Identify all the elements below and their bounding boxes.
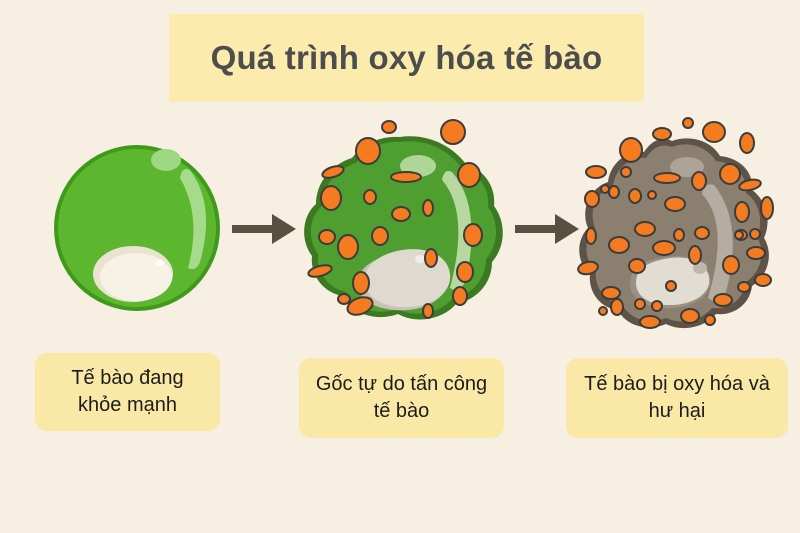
healthy-cell-body [58,149,216,307]
free-radical [735,231,743,239]
free-radical [621,167,631,177]
free-radical-group-stage-2 [307,120,482,318]
free-radical [423,304,433,318]
free-radical [747,247,765,259]
stage-2-cell-under-attack [304,120,503,319]
free-radical [695,227,709,239]
oxidized-cell-outline [579,138,769,328]
healthy-cell-nucleus-sheen [156,260,164,266]
free-radical [640,316,660,328]
free-radical [635,299,645,309]
free-radical [652,301,662,311]
healthy-cell-dot-highlight [151,149,181,171]
free-radical [586,228,596,244]
free-radical [611,299,623,315]
free-radical [629,259,645,273]
free-radical [683,118,693,128]
attacked-cell-nucleus-sheen [415,255,425,263]
arrow-2 [515,214,579,244]
free-radical [750,229,760,239]
caption-healthy-cell: Tế bào đang khỏe mạnh [35,353,220,431]
free-radical [602,287,620,299]
arrow-2-shaft [515,225,559,233]
free-radical [453,287,467,305]
stage-1-healthy-cell [54,145,220,311]
free-radical [666,281,676,291]
attacked-cell-nucleus [365,249,451,307]
oxidized-cell-nucleus-sheen [693,262,707,274]
stage-3-oxidized-cell [577,118,773,328]
free-radical [674,229,684,241]
caption-free-radical-attack: Gốc tự do tấn công tế bào [299,358,504,438]
free-radical [723,256,739,274]
healthy-cell-crescent-highlight [180,169,206,269]
arrow-1-head [272,214,296,244]
arrow-1-shaft [232,225,276,233]
free-radical [423,200,433,216]
free-radical [338,235,358,259]
free-radical [689,246,701,264]
free-radical [338,294,350,304]
free-radical [319,230,335,244]
free-radical [345,294,375,318]
free-radical [705,315,715,325]
free-radical [665,197,685,211]
free-radical [735,202,749,222]
free-radical [441,120,465,144]
free-radical [321,164,345,180]
title-banner: Quá trình oxy hóa tế bào [169,14,644,102]
free-radical [755,274,771,286]
free-radical [577,260,599,276]
free-radical [356,138,380,164]
free-radical [391,172,421,182]
free-radical [457,262,473,282]
free-radical [738,282,750,292]
free-radical [735,230,747,240]
page-title: Quá trình oxy hóa tế bào [211,39,603,77]
free-radical [585,191,599,207]
free-radical [307,263,333,279]
healthy-cell-nucleus-inner [100,253,172,301]
oxidized-cell-nucleus [636,258,709,306]
free-radical [653,128,671,140]
oxidized-cell-crescent-highlight [702,184,733,301]
caption-oxidized-cell: Tế bào bị oxy hóa và hư hại [566,358,788,438]
free-radical [586,166,606,178]
free-radical [740,133,754,153]
oxidized-cell-body [587,144,762,321]
attacked-cell-crescent-highlight [442,171,472,290]
attacked-cell-nucleus-shadow [357,252,448,311]
free-radical [425,249,437,267]
attacked-cell-body [311,141,496,314]
free-radical [692,172,706,190]
free-radical [599,307,607,315]
free-radical [353,272,369,294]
free-radical [635,222,655,236]
attacked-cell-outline [304,136,503,319]
free-radical [364,190,376,204]
free-radical-group-stage-3 [577,118,773,328]
free-radical [321,186,341,210]
free-radical [458,163,480,187]
free-radical [609,186,619,198]
free-radical [629,189,641,203]
free-radical [738,178,762,192]
free-radical [653,241,675,255]
healthy-cell-nucleus [93,246,173,302]
free-radical [714,294,732,306]
free-radical [464,224,482,246]
arrow-2-head [555,214,579,244]
free-radical [601,185,609,193]
free-radical [761,197,773,219]
free-radical [620,138,642,162]
free-radical [681,309,699,323]
diagram-canvas: Quá trình oxy hóa tế bào [0,0,800,533]
healthy-cell-outline [54,145,220,311]
free-radical [609,237,629,253]
oxidized-cell-nucleus-shadow [630,256,711,308]
free-radical [372,227,388,245]
free-radical [648,191,656,199]
free-radical [703,122,725,142]
free-radical [654,173,680,183]
free-radical [392,207,410,221]
attacked-cell-dot-highlight [400,155,436,177]
arrow-1 [232,214,296,244]
oxidized-cell-dot-highlight [670,157,704,177]
free-radical [720,164,740,184]
free-radical [382,121,396,133]
